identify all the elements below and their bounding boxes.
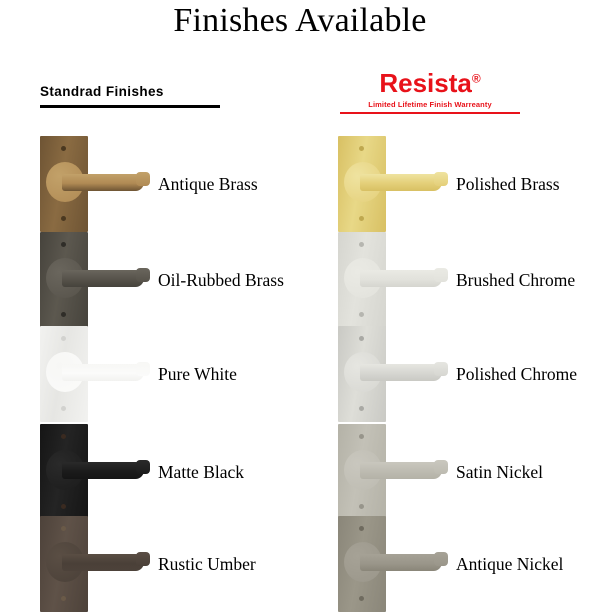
- screw-icon: [61, 434, 66, 439]
- screw-icon: [359, 526, 364, 531]
- finish-name-label: Satin Nickel: [456, 462, 543, 483]
- finish-sample-left-2: Oil-Rubbed Brass: [40, 232, 320, 328]
- screw-icon: [61, 242, 66, 247]
- left-column-header-label: Standrad Finishes: [40, 84, 220, 99]
- registered-trademark-icon: ®: [472, 71, 481, 85]
- screw-icon: [359, 336, 364, 341]
- finish-sample-left-1: Antique Brass: [40, 136, 320, 232]
- lever-handle-graphic: [62, 462, 144, 479]
- finish-sample-left-4: Matte Black: [40, 424, 320, 520]
- finish-sample-right-1: Polished Brass: [338, 136, 600, 232]
- screw-icon: [359, 146, 364, 151]
- screw-icon: [359, 312, 364, 317]
- lever-handle-graphic: [360, 462, 442, 479]
- screw-icon: [359, 596, 364, 601]
- finish-name-label: Matte Black: [158, 462, 244, 483]
- finish-name-label: Polished Brass: [456, 174, 560, 195]
- screw-icon: [61, 406, 66, 411]
- lever-handle-graphic: [360, 554, 442, 571]
- finish-name-label: Brushed Chrome: [456, 270, 575, 291]
- lever-tip-graphic: [136, 460, 150, 474]
- resista-brand-logo: Resista®: [379, 70, 480, 96]
- page-title: Finishes Available: [0, 2, 600, 40]
- finish-sample-right-5: Antique Nickel: [338, 516, 600, 612]
- lever-tip-graphic: [434, 460, 448, 474]
- finish-sample-right-3: Polished Chrome: [338, 326, 600, 422]
- finish-sample-left-5: Rustic Umber: [40, 516, 320, 612]
- screw-icon: [61, 336, 66, 341]
- finish-name-label: Oil-Rubbed Brass: [158, 270, 284, 291]
- lever-handle-graphic: [62, 364, 144, 381]
- finish-name-label: Rustic Umber: [158, 554, 256, 575]
- resista-tagline: Limited Lifetime Finish Warreanty: [340, 100, 520, 109]
- screw-icon: [359, 434, 364, 439]
- lever-handle-graphic: [62, 554, 144, 571]
- right-column-header: Resista® Limited Lifetime Finish Warrean…: [340, 70, 520, 114]
- screw-icon: [359, 406, 364, 411]
- finish-sample-right-2: Brushed Chrome: [338, 232, 600, 328]
- lever-tip-graphic: [434, 172, 448, 186]
- lever-tip-graphic: [434, 552, 448, 566]
- lever-tip-graphic: [136, 552, 150, 566]
- lever-tip-graphic: [434, 268, 448, 282]
- finish-name-label: Pure White: [158, 364, 237, 385]
- screw-icon: [61, 526, 66, 531]
- finish-name-label: Polished Chrome: [456, 364, 577, 385]
- resista-brand-text: Resista: [379, 68, 472, 98]
- screw-icon: [359, 242, 364, 247]
- screw-icon: [61, 216, 66, 221]
- lever-handle-graphic: [360, 364, 442, 381]
- screw-icon: [61, 146, 66, 151]
- lever-tip-graphic: [136, 362, 150, 376]
- lever-tip-graphic: [136, 268, 150, 282]
- lever-handle-graphic: [62, 270, 144, 287]
- left-column-header: Standrad Finishes: [40, 84, 220, 108]
- finish-sample-left-3: Pure White: [40, 326, 320, 422]
- finish-name-label: Antique Nickel: [456, 554, 563, 575]
- finish-sample-right-4: Satin Nickel: [338, 424, 600, 520]
- screw-icon: [359, 216, 364, 221]
- finish-name-label: Antique Brass: [158, 174, 258, 195]
- screw-icon: [359, 504, 364, 509]
- screw-icon: [61, 504, 66, 509]
- screw-icon: [61, 312, 66, 317]
- finishes-chart-page: Finishes Available Standrad Finishes Res…: [0, 0, 600, 600]
- screw-icon: [61, 596, 66, 601]
- lever-handle-graphic: [62, 174, 144, 191]
- lever-tip-graphic: [136, 172, 150, 186]
- lever-handle-graphic: [360, 270, 442, 287]
- lever-handle-graphic: [360, 174, 442, 191]
- left-column-divider: [40, 105, 220, 108]
- lever-tip-graphic: [434, 362, 448, 376]
- right-column-divider: [340, 112, 520, 114]
